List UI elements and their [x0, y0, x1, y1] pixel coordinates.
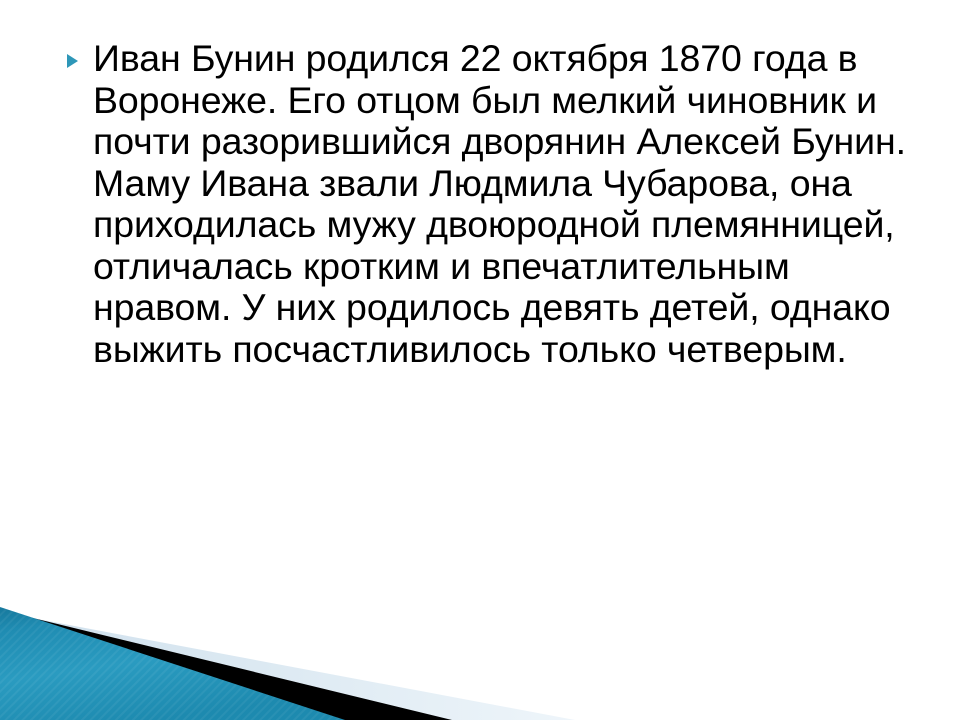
- triangle-bullet-icon: [67, 54, 78, 68]
- decoration-teal-texture: [0, 607, 345, 720]
- slide-canvas: Иван Бунин родился 22 октября 1870 года …: [0, 0, 960, 720]
- decoration-pale-band: [0, 612, 575, 720]
- content-placeholder[interactable]: Иван Бунин родился 22 октября 1870 года …: [62, 38, 922, 370]
- bottom-decoration-graphic: [0, 580, 960, 720]
- decoration-svg: [0, 580, 960, 720]
- bullet-list-item[interactable]: Иван Бунин родился 22 октября 1870 года …: [62, 38, 922, 370]
- decoration-teal-wedge: [0, 607, 345, 720]
- bullet-item-text: Иван Бунин родился 22 октября 1870 года …: [93, 38, 922, 370]
- decoration-black-stripe: [0, 610, 452, 720]
